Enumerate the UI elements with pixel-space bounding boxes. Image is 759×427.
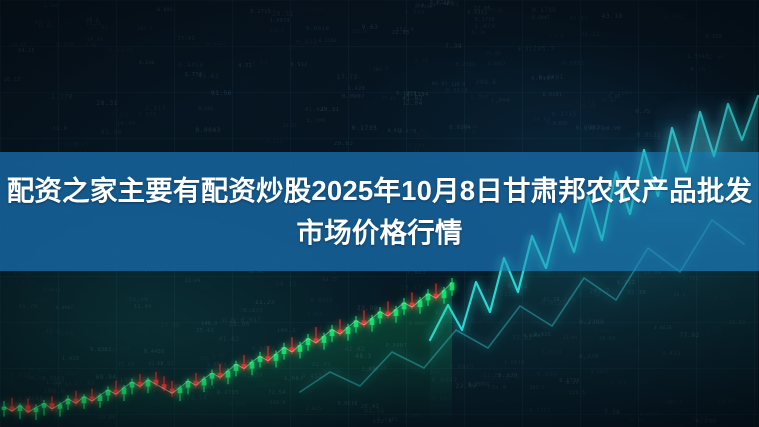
hero-image: 37.4512.042.5589.631.77610.862,9159,2410…: [0, 0, 759, 427]
banner-title-line-1: 配资之家主要有配资炒股2025年10月8日甘肃邦农农产品批发: [7, 170, 753, 212]
candlestick-series: [2, 278, 455, 426]
banner-title-line-2: 市场价格行情: [296, 212, 462, 254]
title-banner: 配资之家主要有配资炒股2025年10月8日甘肃邦农农产品批发 市场价格行情: [0, 152, 759, 271]
